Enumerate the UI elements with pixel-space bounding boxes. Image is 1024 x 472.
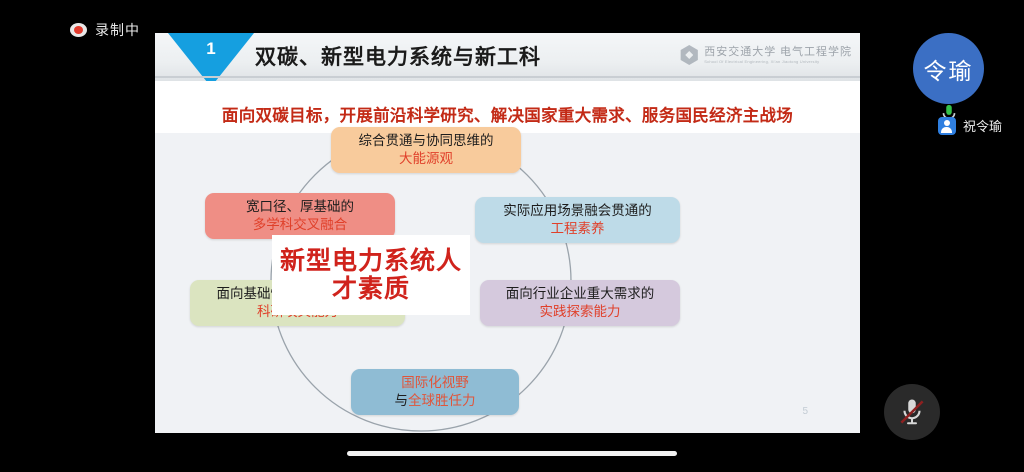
- slide-badge-number: 1: [197, 39, 225, 59]
- record-dot-icon: [70, 23, 87, 37]
- node-left-top[interactable]: 宽口径、厚基础的 多学科交叉融合: [205, 193, 395, 239]
- node-bottom-line2-highlight: 全球胜任力: [408, 393, 476, 408]
- node-bottom-line1: 国际化视野: [361, 374, 509, 392]
- node-bottom[interactable]: 国际化视野 与全球胜任力: [351, 369, 519, 415]
- node-left-top-line2: 多学科交叉融合: [215, 216, 385, 234]
- diagram-canvas: 综合贯通与协同思维的 大能源观 宽口径、厚基础的 多学科交叉融合 实际应用场景融…: [155, 133, 860, 433]
- microphone-muted-icon: [897, 397, 927, 427]
- center-line2: 才素质: [332, 275, 410, 303]
- slide-page-number: 5: [802, 406, 808, 417]
- participant-entry[interactable]: 祝令瑜: [938, 116, 1002, 135]
- diagram-center-label: 新型电力系统人 才素质: [272, 235, 470, 315]
- slide-subtitle: 面向双碳目标，开展前沿科学研究、解决国家重大需求、服务国民经济主战场: [155, 102, 860, 126]
- recording-label: 录制中: [95, 20, 140, 40]
- node-right-bottom-line2: 实践探索能力: [490, 303, 670, 321]
- participant-name: 祝令瑜: [963, 116, 1002, 135]
- university-logo-en: School Of Electrical Engineering, Xi'an …: [704, 60, 852, 64]
- slide-title: 双碳、新型电力系统与新工科: [255, 41, 541, 71]
- node-bottom-line2: 与全球胜任力: [395, 393, 476, 408]
- participant-avatar-icon: [938, 117, 956, 135]
- node-right-top[interactable]: 实际应用场景融会贯通的 工程素养: [475, 197, 680, 243]
- node-top-line1: 综合贯通与协同思维的: [359, 133, 494, 148]
- node-right-top-line2: 工程素养: [485, 220, 670, 238]
- node-right-bottom-line1: 面向行业企业重大需求的: [506, 286, 655, 301]
- slide-body: 面向双碳目标，开展前沿科学研究、解决国家重大需求、服务国民经济主战场 综合贯通与…: [155, 81, 860, 433]
- node-left-top-line1: 宽口径、厚基础的: [246, 199, 354, 214]
- node-right-bottom[interactable]: 面向行业企业重大需求的 实践探索能力: [480, 280, 680, 326]
- microphone-toggle-button[interactable]: [884, 384, 940, 440]
- home-indicator[interactable]: [347, 451, 677, 456]
- shared-slide[interactable]: 1 双碳、新型电力系统与新工科 西安交通大学 电气工程学院 School Of …: [155, 33, 860, 433]
- university-logo-icon: [679, 45, 699, 65]
- slide-header: 1 双碳、新型电力系统与新工科 西安交通大学 电气工程学院 School Of …: [155, 33, 860, 81]
- node-top[interactable]: 综合贯通与协同思维的 大能源观: [331, 127, 521, 173]
- university-logo: 西安交通大学 电气工程学院 School Of Electrical Engin…: [679, 45, 852, 65]
- avatar-initials: 令瑜: [924, 52, 974, 86]
- node-right-top-line1: 实际应用场景融会贯通的: [503, 203, 652, 218]
- node-top-line2: 大能源观: [341, 150, 511, 168]
- node-bottom-line2-prefix: 与: [395, 393, 409, 408]
- header-divider: [155, 76, 860, 78]
- avatar[interactable]: 令瑜: [913, 33, 984, 104]
- recording-indicator: 录制中: [70, 20, 140, 40]
- university-logo-cn: 西安交通大学 电气工程学院: [704, 47, 852, 58]
- center-line1: 新型电力系统人: [280, 247, 462, 275]
